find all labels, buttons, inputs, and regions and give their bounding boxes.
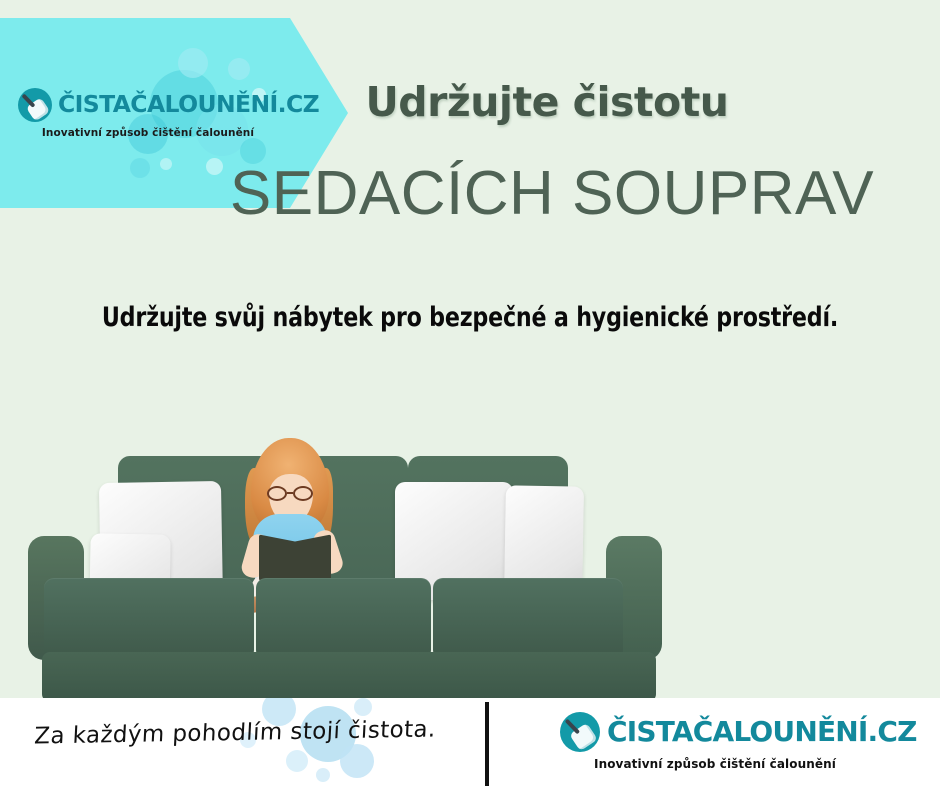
header-logo-wordmark: ČISTAČALOUNĚNÍ.CZ xyxy=(58,93,319,117)
sofa-seat-cushion xyxy=(256,578,431,660)
poster-canvas: ČISTAČALOUNĚNÍ.CZ Inovativní způsob čišt… xyxy=(0,0,940,788)
sofa-scene xyxy=(0,400,940,698)
header-logo-tagline: Inovativní způsob čištění čalounění xyxy=(18,127,278,139)
cleaning-brush-circle-icon xyxy=(18,88,52,122)
bubble-decor xyxy=(178,48,208,78)
cleaning-brush-circle-icon xyxy=(560,712,600,752)
glasses-icon xyxy=(267,486,315,501)
subtitle-text: Udržujte svůj nábytek pro bezpečné a hyg… xyxy=(33,303,907,332)
header-logo[interactable]: ČISTAČALOUNĚNÍ.CZ Inovativní způsob čišt… xyxy=(18,88,278,139)
sofa-seat-cushion xyxy=(44,578,254,660)
sofa-seat-cushion xyxy=(433,578,623,660)
footer-logo[interactable]: ČISTAČALOUNĚNÍ.CZ Inovativní způsob čišt… xyxy=(560,712,870,771)
footer-divider xyxy=(485,702,489,786)
bubble-decor xyxy=(228,58,250,80)
sofa-base xyxy=(42,652,656,702)
green-sofa xyxy=(28,440,678,690)
footer-logo-tagline: Inovativní způsob čištění čalounění xyxy=(560,757,870,771)
page-title: SEDACÍCH SOUPRAV xyxy=(0,163,940,225)
footer-slogan: Za každým pohodlím stojí čistota. xyxy=(0,716,471,750)
footer-logo-wordmark: ČISTAČALOUNĚNÍ.CZ xyxy=(607,718,917,746)
footer-bar: Za každým pohodlím stojí čistota. ČISTAČ… xyxy=(0,698,940,788)
